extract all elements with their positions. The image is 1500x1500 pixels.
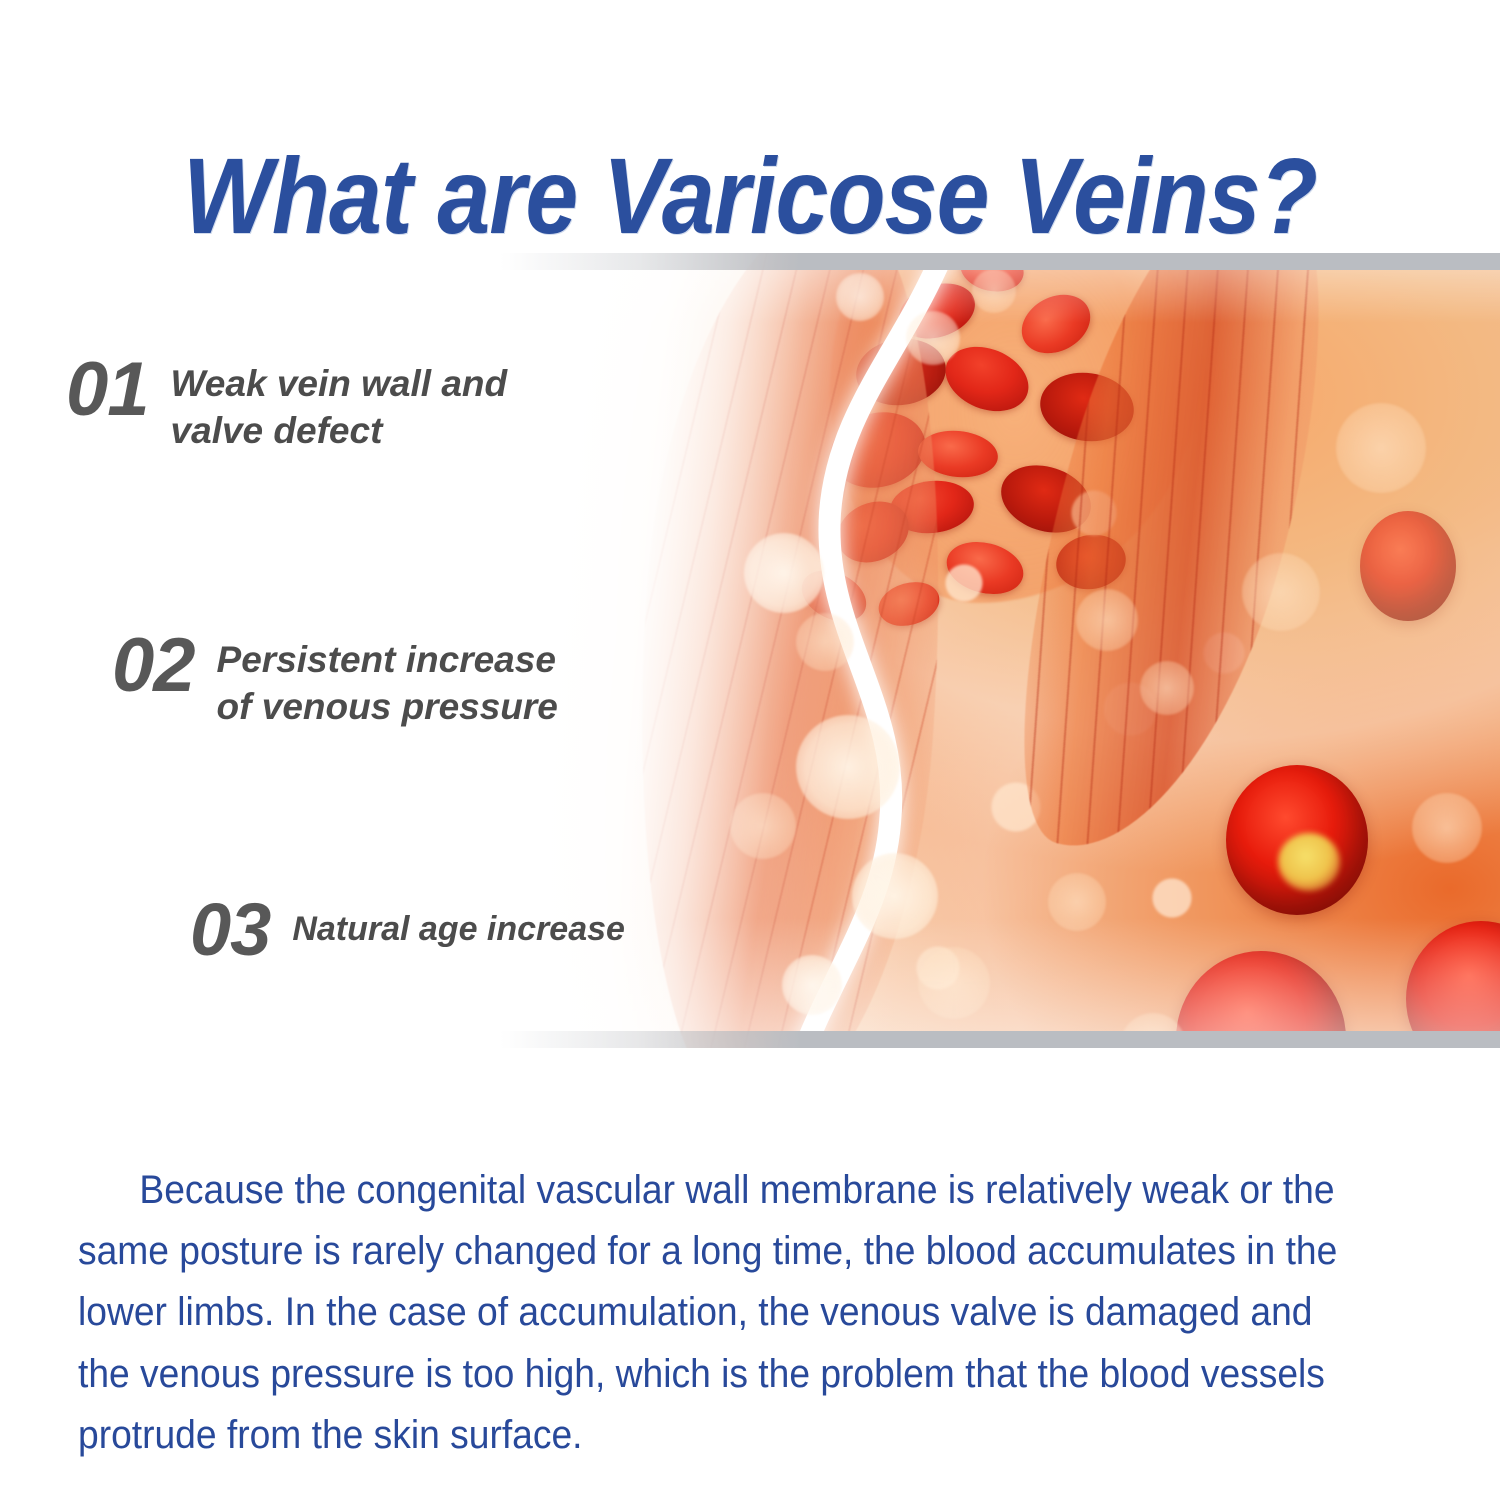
- list-item-label: Weak vein wall and valve defect: [171, 352, 508, 455]
- left-fade: [500, 253, 1500, 1048]
- list-item-number: 01: [66, 352, 149, 428]
- list-item: 01 Weak vein wall and valve defect: [66, 352, 507, 455]
- list-item: 02 Persistent increase of venous pressur…: [112, 628, 558, 731]
- list-item-number: 03: [190, 893, 270, 967]
- frame-band-top: [500, 253, 1500, 270]
- vein-cross-section-illustration: [500, 253, 1500, 1048]
- list-item: 03 Natural age increase: [190, 893, 625, 967]
- page-title: What are Varicose Veins?: [90, 134, 1410, 258]
- list-item-label: Persistent increase of venous pressure: [217, 628, 558, 731]
- list-item-number: 02: [112, 628, 195, 704]
- frame-band-bottom: [500, 1031, 1500, 1048]
- list-item-label: Natural age increase: [292, 908, 625, 952]
- body-paragraph: Because the congenital vascular wall mem…: [78, 1160, 1371, 1466]
